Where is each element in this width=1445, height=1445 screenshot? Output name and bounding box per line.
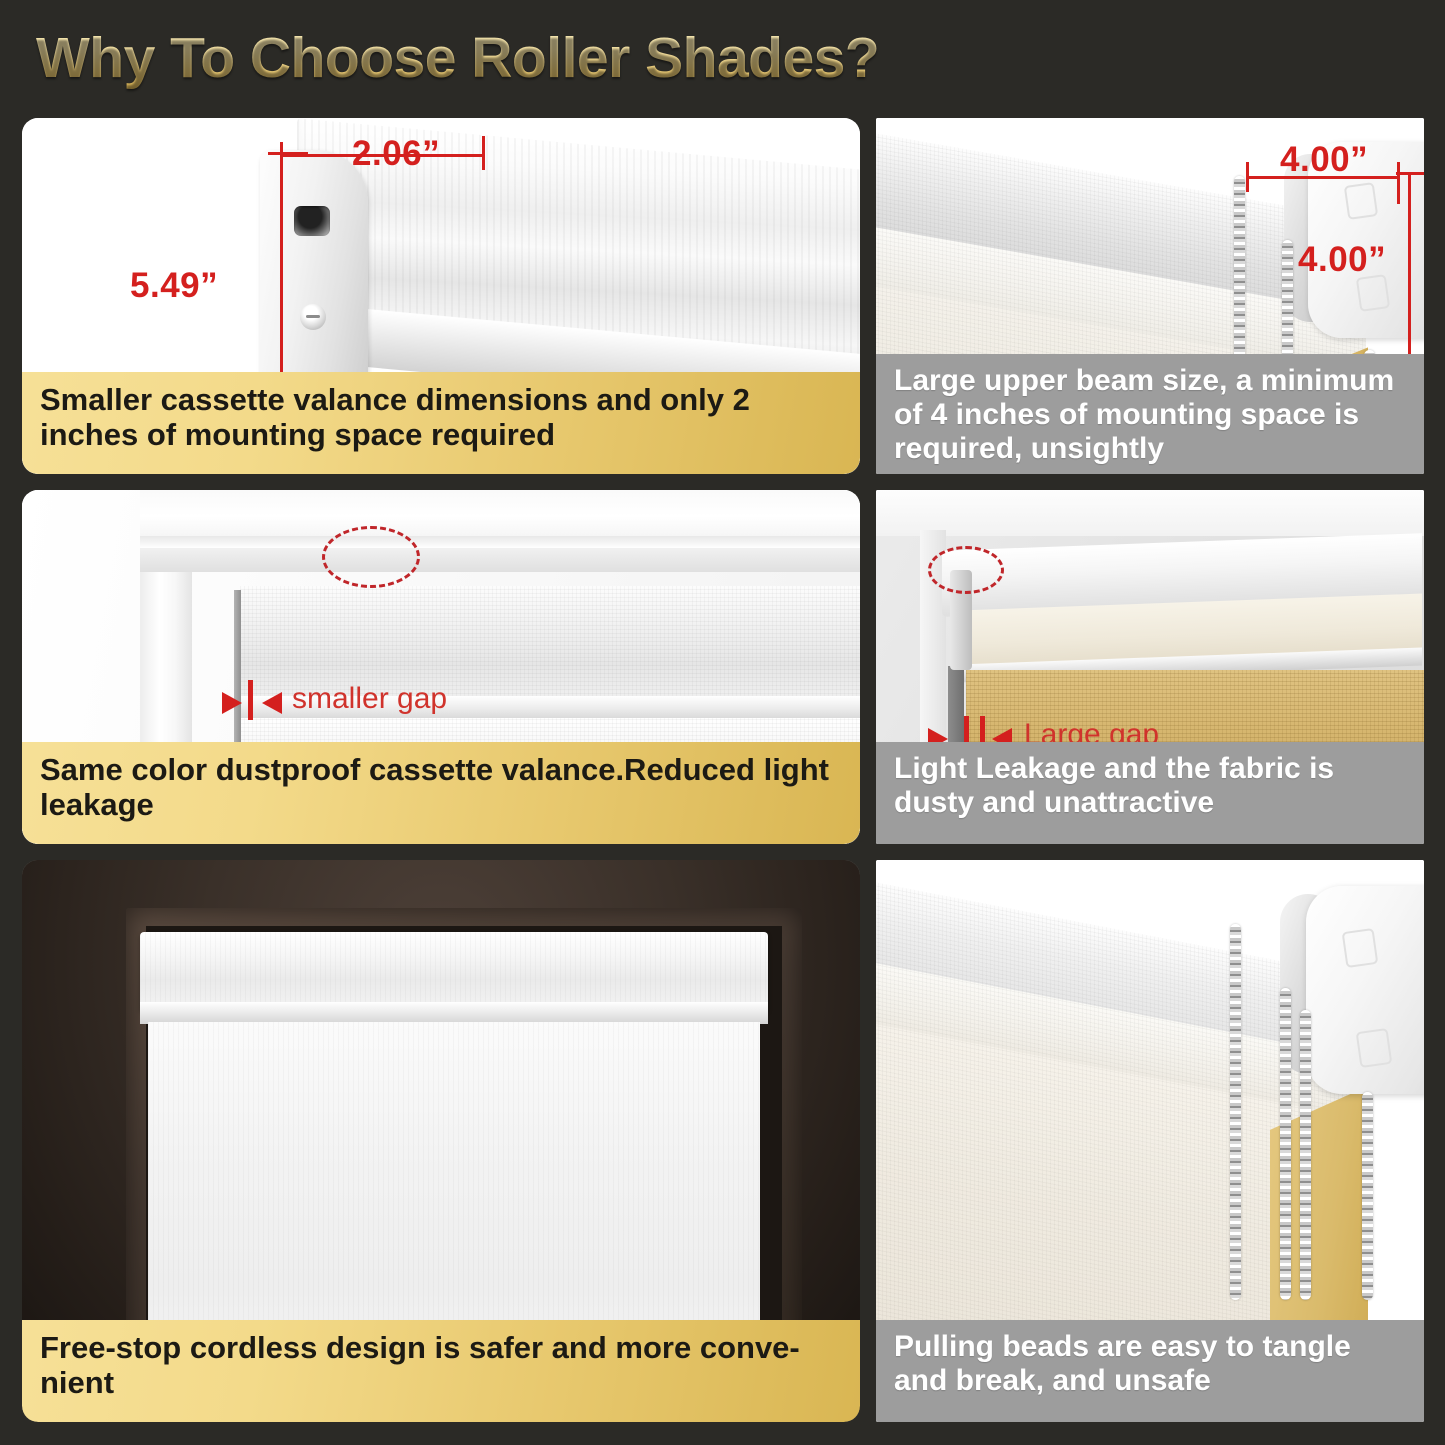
height-dimension-tick-top bbox=[268, 152, 308, 155]
window-head-trim bbox=[140, 490, 860, 572]
end-cap-slot-icon bbox=[294, 206, 330, 236]
bracket-embossing-upper bbox=[1342, 928, 1379, 968]
smaller-gap-label: smaller gap bbox=[292, 682, 447, 716]
valance-end-cap bbox=[260, 150, 368, 380]
caption-large-upper-beam: Large upper beam size, a minimum of 4 in… bbox=[876, 354, 1424, 474]
end-cap-screw-icon bbox=[300, 304, 326, 330]
panel-pulling-beads-unsafe: Pulling beads are easy to tangle and bre… bbox=[876, 860, 1424, 1422]
bead-chain-middle bbox=[1280, 988, 1291, 1300]
beam-height-tick-top bbox=[1396, 172, 1424, 175]
panel-large-upper-beam: 4.00” 4.00” Large upper beam size, a min… bbox=[876, 118, 1424, 474]
beam-height-label: 4.00” bbox=[1298, 240, 1386, 280]
caption-dustproof-cassette-valance: Same color dustproof cassette valance.Re… bbox=[22, 742, 860, 844]
gap-arrow-left-icon bbox=[262, 692, 282, 714]
width-dimension-tick-right bbox=[482, 136, 485, 170]
beam-width-tick-right bbox=[1397, 162, 1400, 204]
bead-chain-middle-2 bbox=[1300, 1010, 1311, 1300]
width-dimension-label: 2.06” bbox=[352, 134, 440, 174]
caption-light-leakage: Light Leakage and the fabric is dusty an… bbox=[876, 742, 1424, 844]
ceiling-strip bbox=[876, 490, 1424, 536]
beam-width-label: 4.00” bbox=[1280, 140, 1368, 180]
bead-chain-right bbox=[1362, 1092, 1373, 1300]
beam-height-dimension-line bbox=[1408, 172, 1411, 364]
caption-free-stop-cordless: Free-stop cordless design is safer and m… bbox=[22, 1320, 860, 1422]
window-head-bevel bbox=[140, 536, 860, 548]
highlight-circle-icon bbox=[928, 546, 1004, 594]
cassette-lip bbox=[140, 1002, 768, 1024]
fabric-weave-texture bbox=[140, 932, 768, 1010]
highlight-circle-icon bbox=[322, 526, 420, 588]
bracket-embossing-upper bbox=[1344, 182, 1378, 220]
gap-width-bar bbox=[248, 680, 253, 720]
panel-dustproof-cassette-valance: smaller gap Same color dustproof cassett… bbox=[22, 490, 860, 844]
caption-smaller-cassette-valance: Smaller cassette valance dimensions and … bbox=[22, 372, 860, 474]
comparison-grid: 2.06” 5.49” Smaller cassette valance dim… bbox=[0, 0, 1445, 1445]
bracket-embossing-lower bbox=[1356, 1028, 1393, 1068]
beam-width-tick-left bbox=[1246, 162, 1249, 192]
gap-arrow-right-icon bbox=[222, 692, 242, 714]
height-dimension-label: 5.49” bbox=[130, 266, 218, 306]
cassette-valance bbox=[140, 932, 768, 1010]
bead-chain-left bbox=[1230, 924, 1241, 1300]
panel-smaller-cassette-valance: 2.06” 5.49” Smaller cassette valance dim… bbox=[22, 118, 860, 474]
panel-light-leakage: Large gap Light Leakage and the fabric i… bbox=[876, 490, 1424, 844]
caption-pulling-beads-unsafe: Pulling beads are easy to tangle and bre… bbox=[876, 1320, 1424, 1422]
panel-free-stop-cordless: Free-stop cordless design is safer and m… bbox=[22, 860, 860, 1422]
